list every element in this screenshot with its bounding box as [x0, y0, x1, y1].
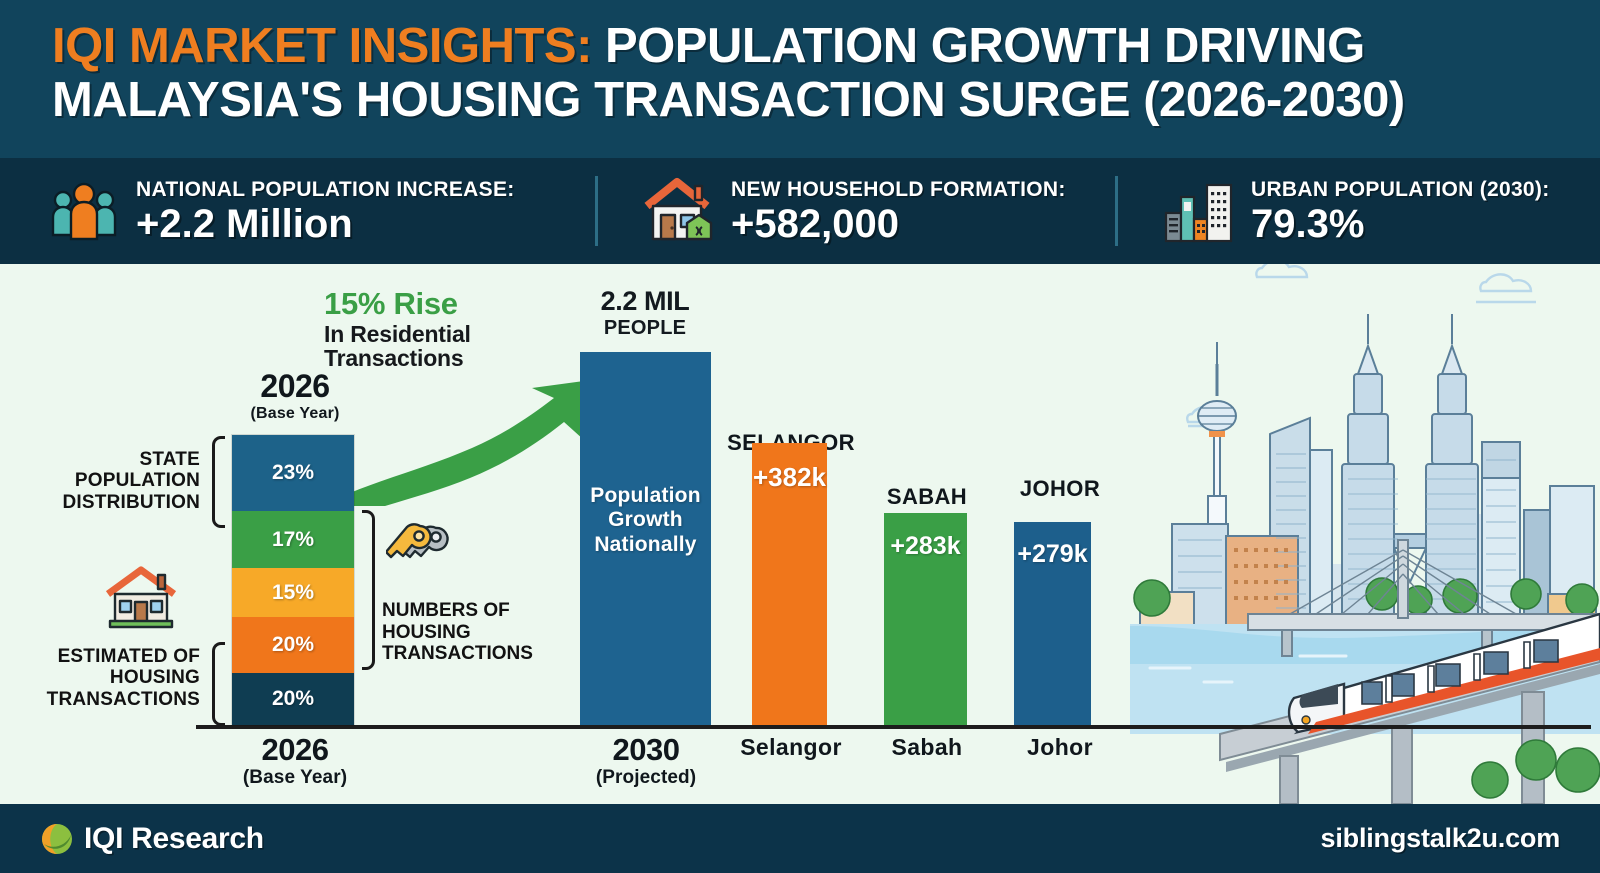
bar-value-sabah: +283k: [884, 532, 967, 561]
state-distribution-brace: [212, 436, 225, 528]
kpi-value: +582,000: [731, 203, 1066, 245]
state-distribution-label: State Population Distribution: [10, 449, 200, 513]
x-tick-2026: 2026 (Base Year): [180, 734, 410, 789]
city-buildings-icon: [1161, 173, 1237, 249]
x-tick-sub: (Base Year): [180, 767, 410, 789]
kuala-lumpur-skyline-illustration: [1130, 264, 1600, 804]
national-bar-value: 2.2 Mil: [560, 286, 730, 317]
bar-sabah[interactable]: +283k: [884, 513, 967, 725]
bar-value-johor: +279k: [1014, 540, 1091, 569]
estimated-transactions-brace: [212, 642, 225, 726]
housing-transactions-brace: [362, 510, 375, 670]
estimated-transactions-label: Estimated of Housing Transactions: [10, 646, 200, 710]
kpi-label: New Household Formation:: [731, 178, 1066, 202]
bar-inner-label: Population Growth Nationally: [580, 484, 711, 557]
iqi-leaf-icon: [40, 822, 74, 856]
footer-bar: IQI Research siblingstalk2u.com: [0, 804, 1600, 873]
x-tick-johor: Johor: [1000, 734, 1120, 761]
rise-annotation: 15% Rise In Residential Transactions: [324, 286, 574, 371]
stack-segment[interactable]: 17%: [232, 511, 354, 568]
x-tick-main: Selangor: [716, 734, 866, 761]
x-tick-main: Johor: [1000, 734, 1120, 761]
stack-segment[interactable]: 20%: [232, 617, 354, 673]
kpi-value: 79.3%: [1251, 203, 1550, 245]
people-group-icon: [46, 173, 122, 249]
page-title: IQI Market Insights: Population Growth D…: [52, 20, 1562, 128]
bar-selangor[interactable]: +382k: [752, 443, 827, 725]
kpi-value: +2.2 Million: [136, 203, 515, 245]
stacked-bar-header: 2026 (Base Year): [180, 368, 410, 423]
national-bar-caption: 2.2 Mil People: [560, 286, 730, 340]
stack-segment-label: 15%: [272, 581, 314, 605]
stack-segment[interactable]: 23%: [232, 435, 354, 511]
bar-johor[interactable]: +279k: [1014, 522, 1091, 725]
kpi-national-population: National Population Increase: +2.2 Milli…: [0, 158, 595, 264]
chart-baseline-axis: [196, 725, 1591, 729]
stack-segment-label: 20%: [272, 687, 314, 711]
national-bar-value-sub: People: [560, 317, 730, 340]
bar-value-selangor: +382k: [752, 462, 827, 493]
bar-caption-johor: Johor: [1000, 476, 1120, 502]
rise-headline: 15% Rise: [324, 286, 574, 322]
kpi-urban-population: Urban Population (2030): 79.3%: [1115, 158, 1600, 264]
header-banner: IQI Market Insights: Population Growth D…: [0, 0, 1600, 158]
x-tick-main: 2026: [180, 734, 410, 767]
kpi-household-formation: New Household Formation: +582,000: [595, 158, 1115, 264]
infographic-page: IQI Market Insights: Population Growth D…: [0, 0, 1600, 873]
housing-transactions-label: Numbers of Housing Transactions: [382, 600, 552, 665]
title-accent: IQI Market Insights:: [52, 19, 592, 73]
stack-segment[interactable]: 15%: [232, 568, 354, 617]
keys-icon: [386, 522, 460, 586]
source-website: siblingstalk2u.com: [1321, 823, 1560, 854]
brand-logo: IQI Research: [40, 822, 264, 856]
house-formation-icon: [641, 173, 717, 249]
house-icon: [104, 564, 178, 630]
stack-segment-label: 17%: [272, 528, 314, 552]
stack-segment-label: 20%: [272, 633, 314, 657]
x-tick-selangor: Selangor: [716, 734, 866, 761]
chart-area: 15% Rise In Residential Transactions 202…: [0, 264, 1600, 804]
stacked-bar-2026[interactable]: 23% 17% 15% 20% 20%: [232, 435, 354, 725]
stack-segment[interactable]: 20%: [232, 673, 354, 725]
stacked-bar-year-sub: (Base Year): [180, 405, 410, 423]
stacked-bar-year: 2026: [180, 368, 410, 405]
x-tick-main: Sabah: [866, 734, 988, 761]
bar-2030-national[interactable]: Population Growth Nationally: [580, 352, 711, 725]
x-tick-sabah: Sabah: [866, 734, 988, 761]
brand-name: IQI Research: [84, 822, 264, 856]
stack-segment-label: 23%: [272, 461, 314, 485]
x-tick-sub: (Projected): [528, 767, 764, 789]
bar-caption-sabah: Sabah: [866, 484, 988, 510]
rise-subtext: In Residential Transactions: [324, 322, 574, 371]
kpi-label: Urban Population (2030):: [1251, 178, 1550, 202]
kpi-label: National Population Increase:: [136, 178, 515, 202]
kpi-strip: National Population Increase: +2.2 Milli…: [0, 158, 1600, 264]
